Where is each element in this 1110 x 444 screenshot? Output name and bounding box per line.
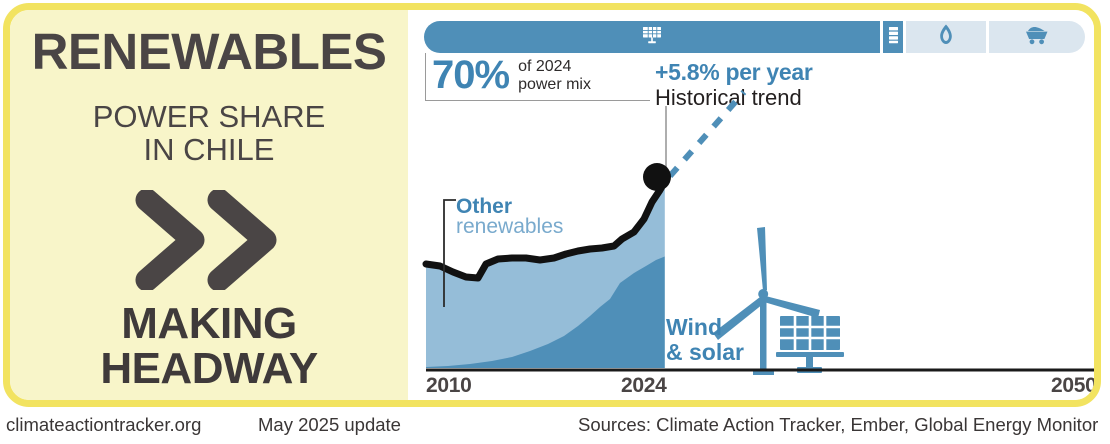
page-title: RENEWABLES [10, 26, 408, 77]
page-subtitle-line1: POWER SHARE [10, 100, 408, 133]
x-tick-2050: 2050 [1051, 374, 1097, 398]
label-wind-solar: Wind & solar [666, 315, 744, 365]
x-axis-tick-labels: 2010 2024 2050 [408, 374, 1101, 402]
label-other-renewables: Other renewables [456, 196, 563, 237]
footer-update: May 2025 update [258, 414, 401, 436]
left-summary-panel: RENEWABLES POWER SHARE IN CHILE MAKING H… [10, 10, 408, 400]
label-wind-solar-line2: & solar [666, 340, 744, 365]
footer: climateactiontracker.org May 2025 update… [0, 414, 1110, 444]
label-wind-solar-line1: Wind [666, 315, 744, 340]
label-other-renewables-line1: Other [456, 196, 563, 217]
page-subtitle-line2: IN CHILE [10, 133, 408, 166]
label-other-renewables-line2: renewables [456, 216, 563, 237]
solar-panel-icon [776, 316, 844, 373]
footer-site[interactable]: climateactiontracker.org [6, 414, 201, 436]
x-tick-2010: 2010 [426, 374, 472, 398]
page-subtitle: POWER SHARE IN CHILE [10, 100, 408, 167]
verdict-line1: MAKING [10, 302, 408, 347]
verdict-line2: HEADWAY [10, 347, 408, 392]
marker-2024 [643, 163, 671, 191]
infographic-frame: RENEWABLES POWER SHARE IN CHILE MAKING H… [3, 3, 1101, 407]
x-tick-2024: 2024 [621, 374, 667, 398]
double-chevron-right-icon [10, 190, 408, 290]
chart-panel: 70% of 2024 power mix +5.8% per year His… [408, 10, 1094, 400]
verdict-text: MAKING HEADWAY [10, 302, 408, 392]
footer-sources: Sources: Climate Action Tracker, Ember, … [578, 414, 1098, 436]
infographic-root: RENEWABLES POWER SHARE IN CHILE MAKING H… [0, 0, 1110, 444]
trend-projection-dashed-line [670, 92, 744, 176]
